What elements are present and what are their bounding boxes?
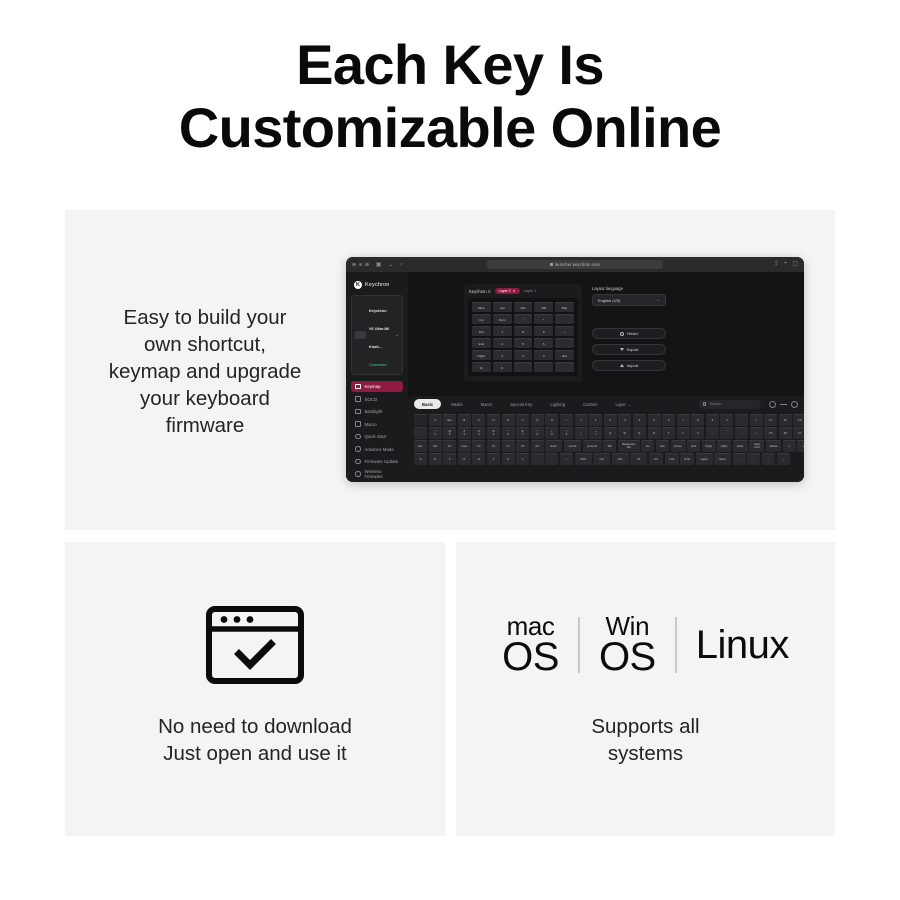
keyboard-key[interactable]: ↑ bbox=[762, 453, 775, 465]
keyboard-key[interactable]: Menu bbox=[714, 453, 731, 465]
os-logo-linux: Linux bbox=[696, 627, 789, 664]
keyboard-key[interactable]: 2 bbox=[604, 414, 617, 426]
tab-special-key[interactable]: Special Key bbox=[502, 399, 540, 409]
sidebar-item-socd[interactable]: SOCD bbox=[351, 394, 403, 405]
keyboard-key[interactable]: → bbox=[777, 453, 790, 465]
keyboard-key[interactable]: Esc bbox=[443, 414, 456, 426]
tab-label: Special Key bbox=[510, 402, 532, 407]
bottom-right-caption-line-2: systems bbox=[608, 742, 683, 765]
tab-layer[interactable]: Layer⌄ bbox=[607, 399, 639, 409]
keyboard-key[interactable]: PgDn bbox=[717, 440, 731, 452]
sidebar-item-label: Wireless Firmware bbox=[365, 469, 400, 479]
os-support-logos: macOSWinOSLinux bbox=[456, 606, 835, 684]
keyboard-key[interactable]: F3 bbox=[793, 414, 804, 426]
sidebar-item-keymap[interactable]: Keymap bbox=[351, 381, 403, 392]
numpad-key[interactable] bbox=[555, 362, 574, 372]
numpad-key[interactable] bbox=[534, 362, 553, 372]
keyboard-key[interactable]: H bbox=[545, 414, 558, 426]
keyboard-key[interactable]: &7 bbox=[516, 427, 529, 439]
sidebar-item-label: SOCD bbox=[365, 397, 378, 402]
keyboard-key[interactable]: G bbox=[458, 453, 471, 465]
keyboard-key[interactable]: ^6 bbox=[502, 427, 515, 439]
keyboard-key[interactable]: ` bbox=[414, 427, 427, 439]
keycode-tabbar: BasicMediaMacroSpecial KeyLightingCustom… bbox=[408, 396, 804, 412]
share-icon[interactable]: ⇪ bbox=[774, 260, 779, 269]
keyboard-key[interactable]: L Alt bbox=[665, 453, 679, 465]
chevron-down-icon[interactable]: ⌄ bbox=[395, 332, 399, 338]
keyboard-key[interactable]: 6 bbox=[662, 414, 675, 426]
keyboard-key[interactable]: PgUp bbox=[702, 440, 716, 452]
keychron-logo-icon: K bbox=[354, 281, 362, 289]
keyboard-row: `!1@2#3$4%5^6&7*8(9)0_-+=QWERTYU:;"'~|F5… bbox=[414, 427, 798, 439]
keyboard-key[interactable]: 5 bbox=[648, 414, 661, 426]
tab-custom[interactable]: Custom bbox=[575, 399, 605, 409]
keyboard-key[interactable]: Tab bbox=[429, 440, 442, 452]
zoom-out-icon[interactable] bbox=[769, 401, 776, 408]
browser-window-check-icon bbox=[205, 605, 305, 685]
keyboard-layout[interactable]: AEscBCDEFGHIJ1234567890-=F1F2F3F4`!1@2#3… bbox=[414, 414, 798, 465]
keyboard-key[interactable] bbox=[414, 414, 427, 426]
keyboard-key[interactable]: Home bbox=[671, 440, 686, 452]
keyboard-key[interactable]: Enter bbox=[733, 440, 748, 452]
os-logo-big-text: OS bbox=[502, 639, 559, 676]
bottom-left-caption-line-1: No need to download bbox=[158, 715, 352, 738]
os-divider bbox=[675, 617, 677, 673]
keyboard-key[interactable]: K bbox=[502, 453, 515, 465]
sidebar-item-quick-start[interactable]: Quick Start bbox=[351, 431, 403, 442]
device-selector[interactable]: Keychron V6 Ultra 8K Knob... Connected ⌄ bbox=[351, 295, 403, 375]
keyboard-key[interactable]: 4 bbox=[633, 414, 646, 426]
export-button[interactable]: Export bbox=[592, 344, 666, 355]
keyboard-key[interactable]: D bbox=[487, 414, 500, 426]
keyboard-key[interactable]: %5 bbox=[487, 427, 500, 439]
numpad-key[interactable]: 0 bbox=[493, 362, 512, 372]
numpad-key[interactable]: Bsp bbox=[555, 302, 574, 312]
chevron-down-icon[interactable]: ⌄ bbox=[388, 262, 393, 268]
backlight-icon bbox=[355, 409, 361, 415]
keyboard-key[interactable]: T bbox=[662, 427, 675, 439]
tabs-icon[interactable]: ▢ bbox=[792, 260, 798, 269]
numpad-preview[interactable]: MuteCalDelTabBspInsNum/*-Del789+End456Pg… bbox=[468, 298, 578, 376]
tab-lighting[interactable]: Lighting bbox=[542, 399, 573, 409]
keyboard-key[interactable]: _- bbox=[575, 427, 588, 439]
numpad-key[interactable]: 8 bbox=[514, 326, 533, 336]
numpad-key[interactable]: Cal bbox=[493, 302, 512, 312]
keyboard-key[interactable]: , bbox=[545, 453, 558, 465]
numpad-key[interactable]: Del bbox=[514, 302, 533, 312]
sidebar-item-key-test[interactable]: Key Test bbox=[351, 481, 403, 482]
browser-chrome-actions[interactable]: ⇪ + ▢ bbox=[774, 260, 798, 269]
keyboard-key[interactable]: F7 bbox=[793, 427, 804, 439]
numpad-key[interactable]: Del bbox=[472, 326, 491, 336]
sidebar-item-macro[interactable]: Macro bbox=[351, 419, 403, 430]
lock-icon bbox=[550, 263, 553, 266]
keyboard-key[interactable]: *8 bbox=[531, 427, 544, 439]
keyboard-key[interactable]: 2 bbox=[797, 440, 804, 452]
keyboard-key[interactable]: Del bbox=[656, 440, 669, 452]
keyboard-key[interactable]: J bbox=[487, 453, 500, 465]
plus-icon[interactable]: + bbox=[784, 260, 788, 269]
keyboard-key[interactable]: 3 bbox=[618, 414, 631, 426]
keyboard-key[interactable]: R Alt bbox=[680, 453, 694, 465]
keyboard-key[interactable]: E bbox=[633, 427, 646, 439]
keyboard-key[interactable]: 9 bbox=[706, 414, 719, 426]
numpad-key[interactable]: PgDn bbox=[472, 350, 491, 360]
keyboard-key[interactable]: 1 bbox=[783, 440, 796, 452]
socd-icon bbox=[355, 396, 361, 402]
zoom-controls[interactable] bbox=[769, 401, 798, 408]
keyboard-key[interactable]: F5 bbox=[764, 427, 777, 439]
keyboard-key[interactable]: BackspaceDel bbox=[618, 440, 640, 452]
sidebar-item-label: Firmware Update bbox=[365, 459, 399, 464]
numpad-key[interactable]: * bbox=[534, 314, 553, 324]
numpad-key[interactable]: - bbox=[555, 314, 574, 324]
export-icon bbox=[620, 348, 624, 351]
import-button-label: Import bbox=[627, 363, 638, 368]
tab-label: Basic bbox=[422, 402, 433, 407]
search-placeholder: Search bbox=[709, 402, 721, 406]
device-thumbnail bbox=[355, 331, 366, 339]
keyboard-key[interactable]: "' bbox=[720, 427, 733, 439]
top-card-copy-line-2: own shortcut, bbox=[144, 333, 266, 356]
numpad-key[interactable]: . bbox=[514, 362, 533, 372]
keyboard-key[interactable]: I bbox=[560, 414, 573, 426]
bottom-left-caption: No need to download Just open and use it bbox=[65, 714, 445, 767]
import-icon bbox=[620, 364, 624, 367]
numpad-key[interactable]: Mute bbox=[472, 302, 491, 312]
chevron-left-icon[interactable]: ‹ bbox=[400, 262, 402, 268]
keyboard-key[interactable]: Enter bbox=[545, 440, 562, 452]
product-feature-page: Each Key Is Customizable Online Easy to … bbox=[0, 0, 900, 900]
keyboard-key[interactable]: J bbox=[575, 414, 588, 426]
app-screenshot-window: ▣ ⌄ ‹ launcher.keychron.com ⇪ + ▢ K Keyc… bbox=[346, 257, 804, 482]
keymap-preview-panel: Keychron V Layer 0 ✕ Layer 1 MuteCalDelT… bbox=[464, 284, 582, 382]
keyboard-key[interactable]: F3 bbox=[487, 440, 500, 452]
keyboard-key[interactable]: End bbox=[687, 440, 700, 452]
numpad-key[interactable]: Ins bbox=[472, 314, 491, 324]
keyboard-key[interactable]: F2 bbox=[779, 414, 792, 426]
numpad-key[interactable]: End bbox=[472, 338, 491, 348]
keyboard-key[interactable]: R bbox=[648, 427, 661, 439]
quick-start-icon bbox=[355, 434, 361, 440]
keyboard-key[interactable]: Delete bbox=[766, 440, 781, 452]
keymap-panel-title: Keychron V bbox=[469, 289, 491, 294]
import-button[interactable]: Import bbox=[592, 360, 666, 371]
numpad-key[interactable]: + bbox=[555, 326, 574, 336]
tab-label: Macro bbox=[481, 402, 493, 407]
keyboard-key[interactable]: - bbox=[735, 414, 748, 426]
keyboard-key[interactable]: Ctrl bbox=[593, 453, 610, 465]
tab-label: Layer bbox=[615, 402, 625, 407]
keyboard-key[interactable]: Win bbox=[612, 453, 629, 465]
sidebar-item-wireless-firmware[interactable]: Wireless Firmware bbox=[351, 469, 403, 480]
numpad-key[interactable]: 7 bbox=[493, 326, 512, 336]
app-sidebar: K Keychron Keychron V6 Ultra 8K Knob... … bbox=[346, 272, 408, 482]
sidebar-nav: KeymapSOCDBacklightMacroQuick StartAdvan… bbox=[351, 381, 403, 482]
numpad-key[interactable]: Ent bbox=[555, 350, 574, 360]
keyboard-key[interactable]: E bbox=[502, 414, 515, 426]
keyboard-key[interactable]: @2 bbox=[443, 427, 456, 439]
zoom-slider[interactable] bbox=[780, 404, 787, 405]
keyboard-key[interactable]: F1 bbox=[443, 440, 456, 452]
os-logo-big-text: Linux bbox=[696, 627, 789, 664]
keyboard-key[interactable]: S bbox=[414, 453, 427, 465]
keyboard-key[interactable]: | bbox=[750, 427, 763, 439]
keyboard-key[interactable]: L bbox=[516, 453, 529, 465]
keyboard-key[interactable]: ← bbox=[733, 453, 746, 465]
brand: K Keychron bbox=[351, 278, 403, 295]
keyboard-key[interactable]: Ins bbox=[641, 440, 654, 452]
layout-language-panel: Layout language English (US) ⌄ ResetExpo… bbox=[592, 286, 666, 376]
keyboard-key[interactable]: Y bbox=[677, 427, 690, 439]
keymap-icon bbox=[355, 384, 361, 390]
tab-label: Lighting bbox=[550, 402, 565, 407]
tab-macro[interactable]: Macro bbox=[473, 399, 501, 409]
numpad-key[interactable] bbox=[555, 338, 574, 348]
keyboard-key[interactable]: Caps bbox=[458, 440, 471, 452]
keyboard-key[interactable]: F5 bbox=[516, 440, 529, 452]
sidebar-item-firmware-update[interactable]: Firmware Update bbox=[351, 456, 403, 467]
keyboard-key[interactable]: F6 bbox=[531, 440, 544, 452]
keyboard-key[interactable]: A bbox=[429, 414, 442, 426]
tab-label: Custom bbox=[583, 402, 597, 407]
os-logo-win: WinOS bbox=[599, 615, 656, 676]
feature-card-bottom-right bbox=[456, 542, 835, 836]
keyboard-key[interactable]: H bbox=[472, 453, 485, 465]
search-input[interactable]: Search bbox=[699, 400, 761, 409]
macro-icon bbox=[355, 421, 361, 427]
bottom-right-caption-line-1: Supports all bbox=[591, 715, 699, 738]
top-card-copy-line-3: keymap and upgrade bbox=[109, 360, 302, 383]
feature-card-bottom-left bbox=[65, 542, 445, 836]
keyboard-key[interactable]: C bbox=[472, 414, 485, 426]
window-traffic-lights[interactable] bbox=[352, 263, 369, 267]
browser-chrome: ▣ ⌄ ‹ launcher.keychron.com ⇪ + ▢ bbox=[346, 257, 804, 272]
keyboard-section: BasicMediaMacroSpecial KeyLightingCustom… bbox=[408, 396, 804, 482]
keymap-panel-header: Keychron V Layer 0 ✕ Layer 1 bbox=[468, 288, 578, 294]
device-status: Connected bbox=[369, 363, 386, 367]
keyboard-key[interactable]: 8 bbox=[691, 414, 704, 426]
page-title-line-1: Each Key Is bbox=[296, 33, 604, 96]
keyboard-key[interactable]: . bbox=[531, 453, 544, 465]
keyboard-key[interactable]: ↓ bbox=[747, 453, 760, 465]
keyboard-key[interactable]: CapsLock bbox=[749, 440, 764, 452]
keyboard-key[interactable]: D bbox=[429, 453, 442, 465]
keyboard-key[interactable]: F bbox=[516, 414, 529, 426]
os-logo-big-text: OS bbox=[599, 639, 656, 676]
keyboard-key[interactable]: )0 bbox=[560, 427, 573, 439]
url-text: launcher.keychron.com bbox=[555, 262, 600, 267]
keyboard-key[interactable]: #3 bbox=[458, 427, 471, 439]
keyboard-key[interactable]: G bbox=[531, 414, 544, 426]
app-main: Keychron V Layer 0 ✕ Layer 1 MuteCalDelT… bbox=[408, 272, 804, 482]
keyboard-key[interactable]: / bbox=[560, 453, 573, 465]
numpad-key[interactable]: 3 bbox=[534, 350, 553, 360]
numpad-key[interactable]: 1 bbox=[493, 350, 512, 360]
search-icon bbox=[703, 402, 706, 405]
brand-name: Keychron bbox=[365, 282, 389, 288]
keyboard-key[interactable]: !1 bbox=[429, 427, 442, 439]
os-logo-mac: macOS bbox=[502, 615, 559, 676]
layer-tab-active[interactable]: Layer 0 ✕ bbox=[495, 288, 520, 294]
tab-basic[interactable]: Basic bbox=[414, 399, 441, 409]
keyboard-key[interactable]: Tab bbox=[603, 440, 616, 452]
layout-language-select[interactable]: English (US) ⌄ bbox=[592, 294, 666, 306]
keyboard-key[interactable]: Alt bbox=[630, 453, 647, 465]
keyboard-key[interactable]: 0 bbox=[720, 414, 733, 426]
keyboard-key[interactable]: ~ bbox=[735, 427, 748, 439]
keyboard-key[interactable]: record bbox=[564, 440, 581, 452]
numpad-key[interactable]: 2 bbox=[514, 350, 533, 360]
export-button-label: Export bbox=[627, 347, 639, 352]
firmware-update-icon bbox=[355, 459, 361, 465]
chevron-down-icon: ⌄ bbox=[628, 402, 632, 407]
keyboard-key[interactable]: F4 bbox=[502, 440, 515, 452]
keyboard-key[interactable]: F bbox=[443, 453, 456, 465]
top-card-copy-line-1: Easy to build your bbox=[124, 306, 287, 329]
keyboard-key[interactable]: = bbox=[750, 414, 763, 426]
keyboard-key[interactable]: F2 bbox=[472, 440, 485, 452]
keyboard-key[interactable]: Shift bbox=[575, 453, 592, 465]
device-name: Keychron V6 Ultra 8K Knob... bbox=[369, 309, 389, 349]
keyboard-key[interactable]: Q bbox=[604, 427, 617, 439]
keyboard-key[interactable]: Esc bbox=[414, 440, 427, 452]
sidebar-item-label: Quick Start bbox=[365, 434, 387, 439]
sidebar-item-label: Macro bbox=[365, 422, 377, 427]
zoom-in-icon[interactable] bbox=[791, 401, 798, 408]
numpad-key[interactable]: 5 bbox=[514, 338, 533, 348]
reset-icon bbox=[620, 332, 624, 336]
tab-media[interactable]: Media bbox=[443, 399, 470, 409]
numpad-key[interactable]: 4 bbox=[493, 338, 512, 348]
keyboard-key[interactable]: persona bbox=[583, 440, 602, 452]
keyboard-key[interactable]: U bbox=[691, 427, 704, 439]
chevron-down-icon: ⌄ bbox=[656, 297, 660, 303]
keyboard-key[interactable]: F1 bbox=[764, 414, 777, 426]
top-card-copy-line-5: firmware bbox=[166, 414, 245, 437]
sidebar-item-label: Keymap bbox=[365, 384, 381, 389]
numpad-key[interactable]: Tab bbox=[534, 302, 553, 312]
keyboard-key[interactable]: F6 bbox=[779, 427, 792, 439]
page-title-line-2: Customizable Online bbox=[0, 97, 900, 160]
sidebar-icon[interactable]: ▣ bbox=[376, 262, 382, 268]
sidebar-item-backlight[interactable]: Backlight bbox=[351, 406, 403, 417]
bottom-right-caption: Supports all systems bbox=[456, 714, 835, 767]
layout-language-label: Layout language bbox=[592, 286, 666, 291]
keyboard-key[interactable]: :; bbox=[706, 427, 719, 439]
keyboard-key[interactable]: 1 bbox=[589, 414, 602, 426]
layer-tab-active-label: Layer 0 bbox=[499, 289, 511, 293]
os-divider bbox=[578, 617, 580, 673]
reset-button[interactable]: Reset bbox=[592, 328, 666, 339]
numpad-key[interactable]: Num bbox=[493, 314, 512, 324]
keyboard-key[interactable]: += bbox=[589, 427, 602, 439]
keyboard-key[interactable]: ctrl bbox=[649, 453, 663, 465]
layout-action-buttons: ResetExportImport bbox=[592, 328, 666, 371]
keyboard-row: AEscBCDEFGHIJ1234567890-=F1F2F3F4 bbox=[414, 414, 798, 426]
numpad-key[interactable]: Fn bbox=[472, 362, 491, 372]
top-card-copy-line-4: your keyboard bbox=[140, 387, 270, 410]
keyboard-key[interactable]: 7 bbox=[677, 414, 690, 426]
keyboard-key[interactable]: B bbox=[458, 414, 471, 426]
keyboard-key[interactable]: (9 bbox=[545, 427, 558, 439]
page-title: Each Key Is Customizable Online bbox=[0, 34, 900, 159]
bottom-left-caption-line-2: Just open and use it bbox=[163, 742, 347, 765]
sidebar-item-label: Backlight bbox=[365, 409, 383, 414]
tab-label: Media bbox=[451, 402, 462, 407]
sidebar-item-label: Advance Mode bbox=[365, 447, 394, 452]
numpad-key[interactable]: / bbox=[514, 314, 533, 324]
reset-button-label: Reset bbox=[627, 331, 637, 336]
keyboard-key[interactable]: $4 bbox=[472, 427, 485, 439]
keyboard-row: EscTabF1CapsF2F3F4F5F6Enterrecordpersona… bbox=[414, 440, 798, 452]
layout-language-value: English (US) bbox=[598, 298, 620, 303]
advance-mode-icon bbox=[355, 446, 361, 452]
numpad-key[interactable]: 6 bbox=[534, 338, 553, 348]
layer-tab-other[interactable]: Layer 1 bbox=[524, 289, 537, 293]
keyboard-key[interactable]: space bbox=[696, 453, 713, 465]
sidebar-item-advance-mode[interactable]: Advance Mode bbox=[351, 444, 403, 455]
close-icon[interactable]: ✕ bbox=[513, 289, 516, 293]
app-body: K Keychron Keychron V6 Ultra 8K Knob... … bbox=[346, 272, 804, 482]
browser-url-bar[interactable]: launcher.keychron.com bbox=[487, 260, 663, 269]
numpad-key[interactable]: 9 bbox=[534, 326, 553, 336]
top-card-copy: Easy to build your own shortcut, keymap … bbox=[92, 304, 318, 439]
keyboard-row: SDFGHJKL.,/ShiftCtrlWinAltctrlL AltR Alt… bbox=[414, 453, 798, 465]
wireless-firmware-icon bbox=[355, 471, 361, 477]
keyboard-key[interactable]: W bbox=[618, 427, 631, 439]
